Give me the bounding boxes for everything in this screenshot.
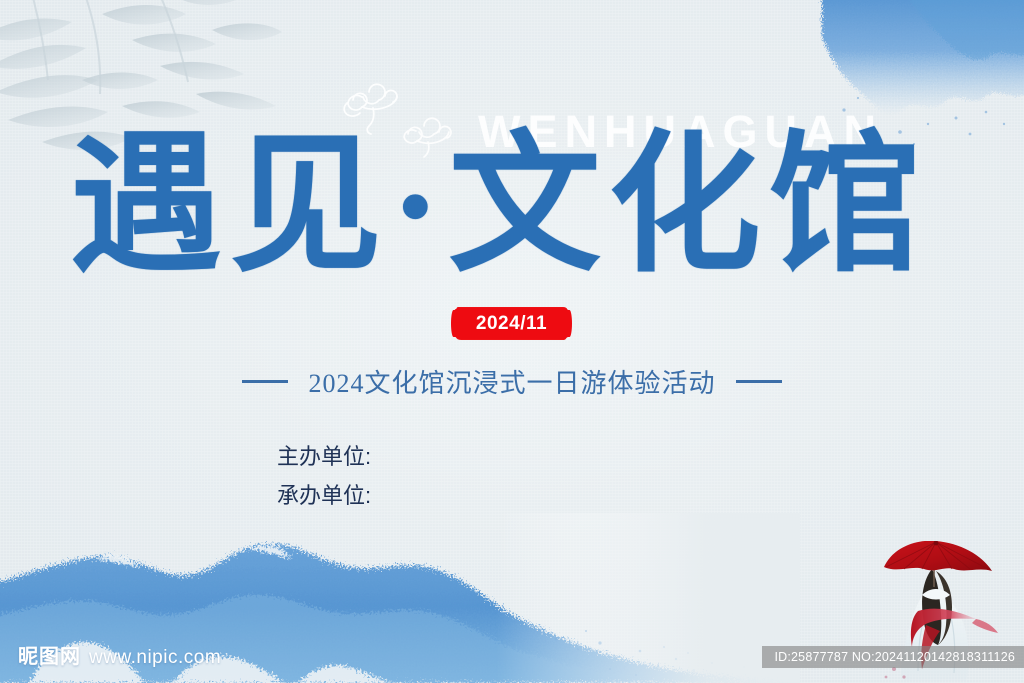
watermark-site-name: 昵图网	[18, 640, 81, 669]
site-watermark: 昵图网 www.nipic.com	[18, 640, 221, 669]
organizer-block: 主办单位: 承办单位:	[277, 437, 371, 515]
date-stamp-badge: 2024/11	[455, 308, 568, 339]
subtitle-row: 2024文化馆沉浸式一日游体验活动	[0, 363, 1024, 400]
organizer-operator-label: 承办单位:	[277, 476, 371, 515]
page-title: 遇见·文化馆	[70, 118, 960, 293]
page-title-text: 遇见·文化馆	[70, 118, 960, 293]
poster-canvas: WENHUAGUAN 遇见·文化馆 2024/11	[0, 0, 1024, 683]
image-id-badge: ID:25877787 NO:20241120142818311126	[762, 646, 1024, 668]
subtitle-dash-right	[736, 380, 782, 383]
organizer-host-label: 主办单位:	[277, 437, 371, 476]
subtitle-dash-left	[242, 380, 288, 383]
date-stamp-label: 2024/11	[476, 313, 547, 335]
subtitle-text: 2024文化馆沉浸式一日游体验活动	[308, 363, 715, 400]
watermark-site-url: www.nipic.com	[89, 647, 221, 669]
